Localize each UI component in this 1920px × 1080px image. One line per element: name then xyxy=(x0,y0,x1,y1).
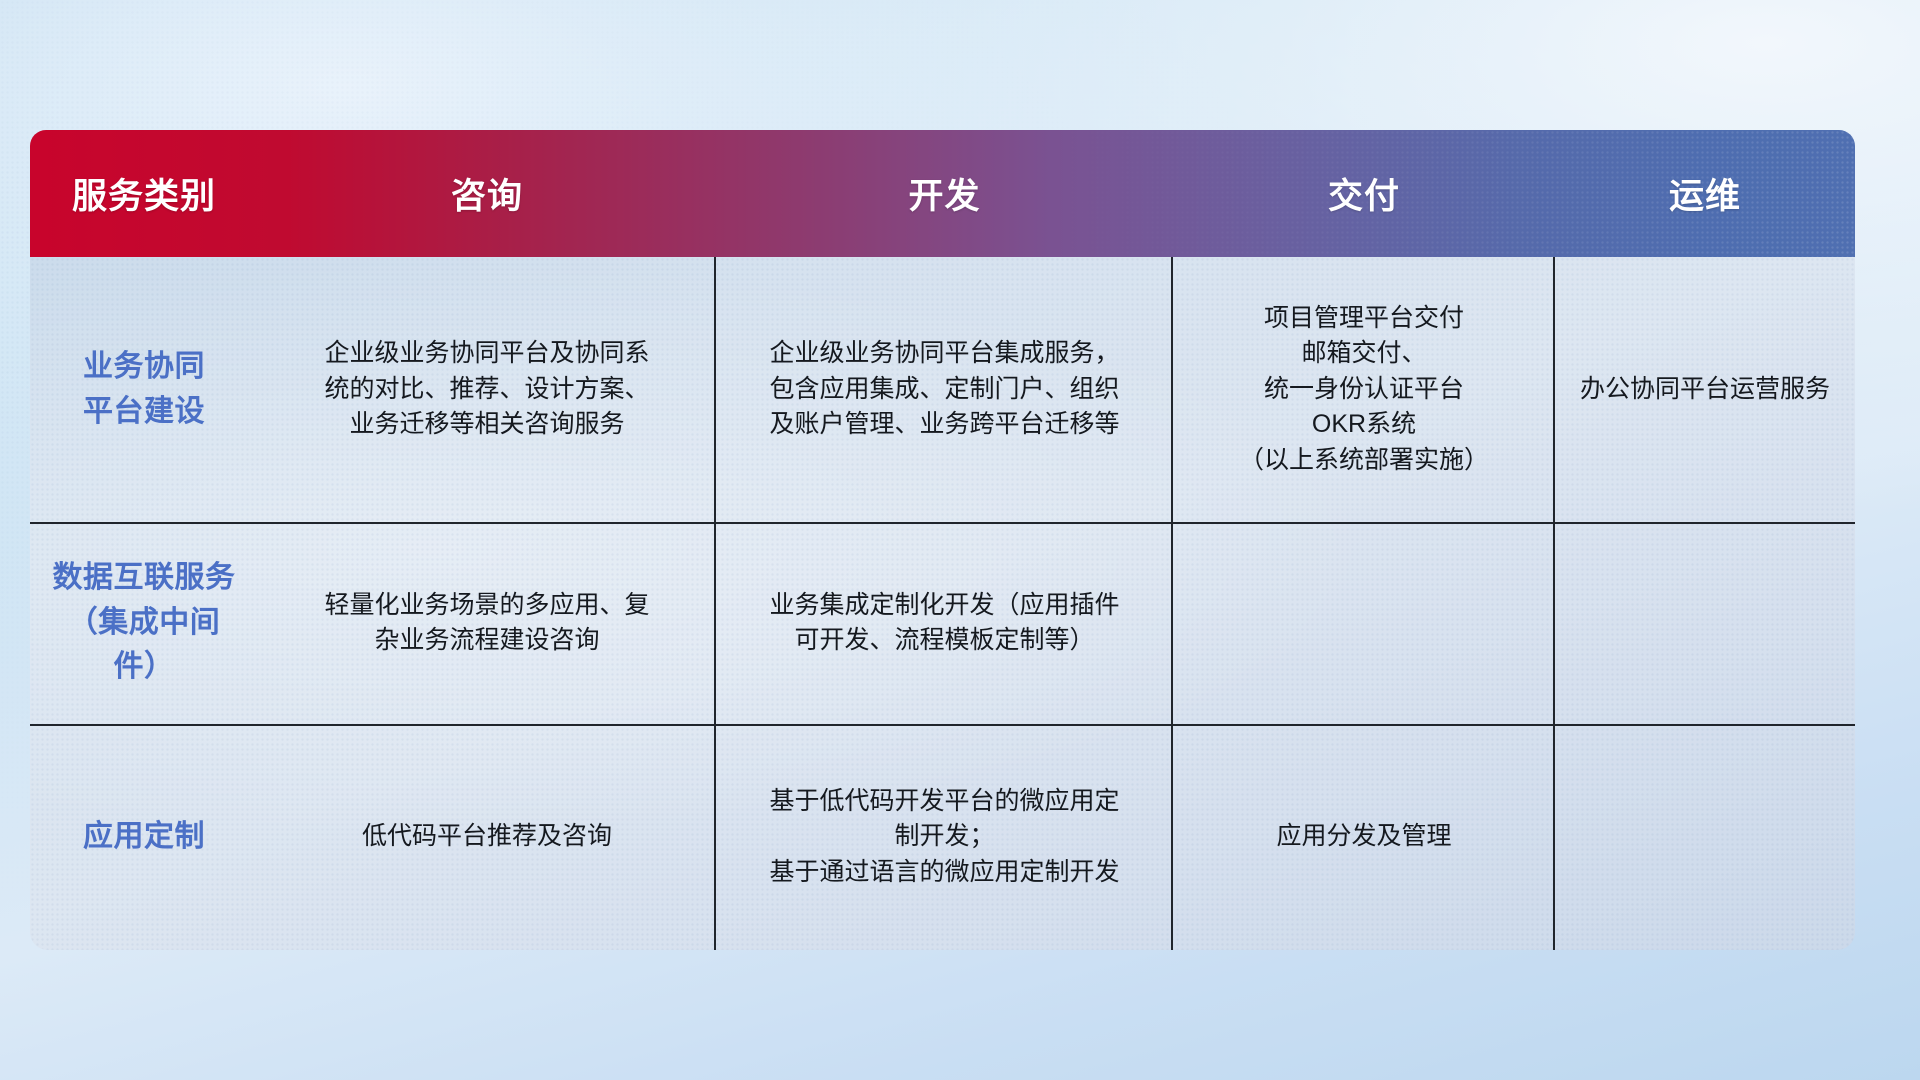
column-divider xyxy=(1171,257,1173,950)
cell-development: 基于低代码开发平台的微应用定 制开发； 基于通过语言的微应用定制开发 xyxy=(716,784,1173,891)
table-header-row: 服务类别 咨询 开发 交付 运维 xyxy=(30,130,1855,257)
column-header-operations: 运维 xyxy=(1555,168,1855,219)
table-row: 数据互联服务 （集成中间件） 轻量化业务场景的多应用、复 杂业务流程建设咨询 业… xyxy=(30,522,1855,724)
table-row: 应用定制 低代码平台推荐及咨询 基于低代码开发平台的微应用定 制开发； 基于通过… xyxy=(30,724,1855,950)
cell-operations: 办公协同平台运营服务 xyxy=(1555,372,1855,408)
column-header-consulting: 咨询 xyxy=(258,168,716,219)
table-row: 业务协同 平台建设 企业级业务协同平台及协同系 统的对比、推荐、设计方案、 业务… xyxy=(30,257,1855,522)
row-divider xyxy=(30,724,1855,726)
column-divider xyxy=(1553,257,1555,950)
table-body: 业务协同 平台建设 企业级业务协同平台及协同系 统的对比、推荐、设计方案、 业务… xyxy=(30,257,1855,950)
cell-category: 业务协同 平台建设 xyxy=(30,345,258,434)
service-matrix-table: 服务类别 咨询 开发 交付 运维 业务协同 平台建设 企业级业务协同平台及协同系… xyxy=(30,130,1855,950)
cell-development: 业务集成定制化开发（应用插件 可开发、流程模板定制等） xyxy=(716,588,1173,659)
cell-delivery: 项目管理平台交付 邮箱交付、 统一身份认证平台 OKR系统 （以上系统部署实施） xyxy=(1173,301,1555,479)
cell-consulting: 轻量化业务场景的多应用、复 杂业务流程建设咨询 xyxy=(258,588,716,659)
column-divider xyxy=(714,257,716,950)
cell-development: 企业级业务协同平台集成服务， 包含应用集成、定制门户、组织 及账户管理、业务跨平… xyxy=(716,336,1173,443)
column-header-delivery: 交付 xyxy=(1173,168,1555,219)
cell-consulting: 低代码平台推荐及咨询 xyxy=(258,819,716,855)
column-header-category: 服务类别 xyxy=(30,168,258,219)
cell-consulting: 企业级业务协同平台及协同系 统的对比、推荐、设计方案、 业务迁移等相关咨询服务 xyxy=(258,336,716,443)
cell-delivery: 应用分发及管理 xyxy=(1173,819,1555,855)
row-divider xyxy=(30,522,1855,524)
cell-category: 数据互联服务 （集成中间件） xyxy=(30,556,258,689)
cell-category: 应用定制 xyxy=(30,815,258,859)
column-header-development: 开发 xyxy=(716,168,1173,219)
